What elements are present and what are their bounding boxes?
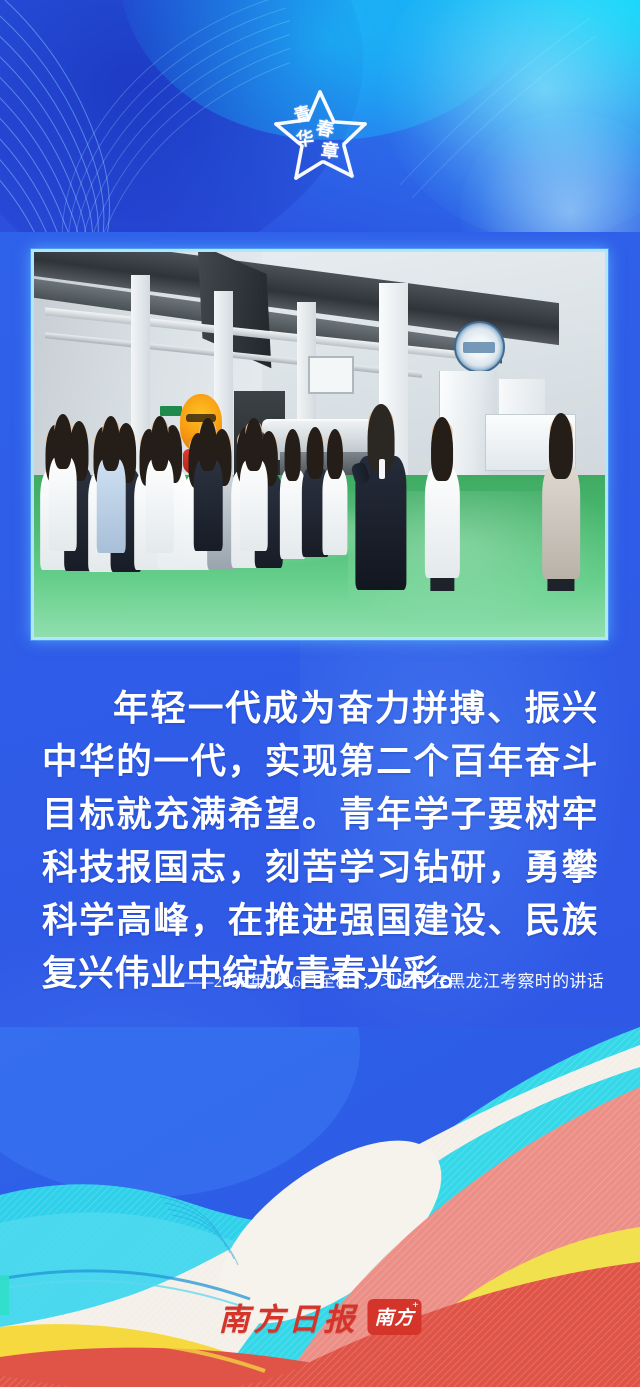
photo-person: [145, 419, 174, 550]
campaign-logo: 青 春 华 章: [268, 84, 372, 188]
photo-central-figure: [359, 408, 402, 585]
logo-char-2: 春: [314, 118, 335, 139]
quote-body: 年轻一代成为奋力拼搏、振兴中华的一代，实现第二个百年奋斗目标就充满希望。青年学子…: [42, 682, 598, 1000]
brand-lockup: 南方日报 南方+: [218, 1294, 421, 1339]
poster-root: 青 春 华 章: [0, 0, 640, 1387]
feature-photo: [34, 252, 605, 637]
brand-app-badge: 南方+: [367, 1299, 421, 1335]
photo-person: [194, 421, 223, 548]
brand-app-plus: +: [412, 1299, 419, 1311]
header-light-streak: [340, 10, 600, 210]
logo-char-1: 青: [292, 104, 313, 125]
photo-wall-frame: [308, 356, 354, 395]
photo-person: [97, 419, 126, 550]
photo-person: [322, 433, 347, 552]
photo-wall-emblem: [454, 321, 505, 373]
quote-section: 年轻一代成为奋力拼搏、振兴中华的一代，实现第二个百年奋斗目标就充满希望。青年学子…: [0, 660, 640, 1050]
photo-person: [48, 418, 77, 549]
logo-char-4: 章: [320, 141, 340, 161]
photo-person: [240, 421, 269, 548]
photo-person-white-shirt: [425, 421, 459, 575]
quote-attribution: ——2023年9月6日至8日，习近平在黑龙江考察时的讲话: [179, 967, 604, 992]
logo-characters: 青 春 华 章: [268, 84, 372, 188]
header-line-pattern-secondary: [0, 0, 290, 232]
header-banner: 青 春 华 章: [0, 0, 640, 232]
footer-decoration: 南方日报 南方+: [0, 1027, 640, 1387]
logo-char-3: 华: [295, 129, 315, 149]
photo-person-right: [542, 418, 580, 576]
brand-newspaper-name: 南方日报: [218, 1294, 358, 1339]
feature-photo-frame: [31, 249, 608, 640]
photo-exit-sign: [160, 406, 183, 416]
brand-app-name: 南方: [374, 1308, 414, 1329]
